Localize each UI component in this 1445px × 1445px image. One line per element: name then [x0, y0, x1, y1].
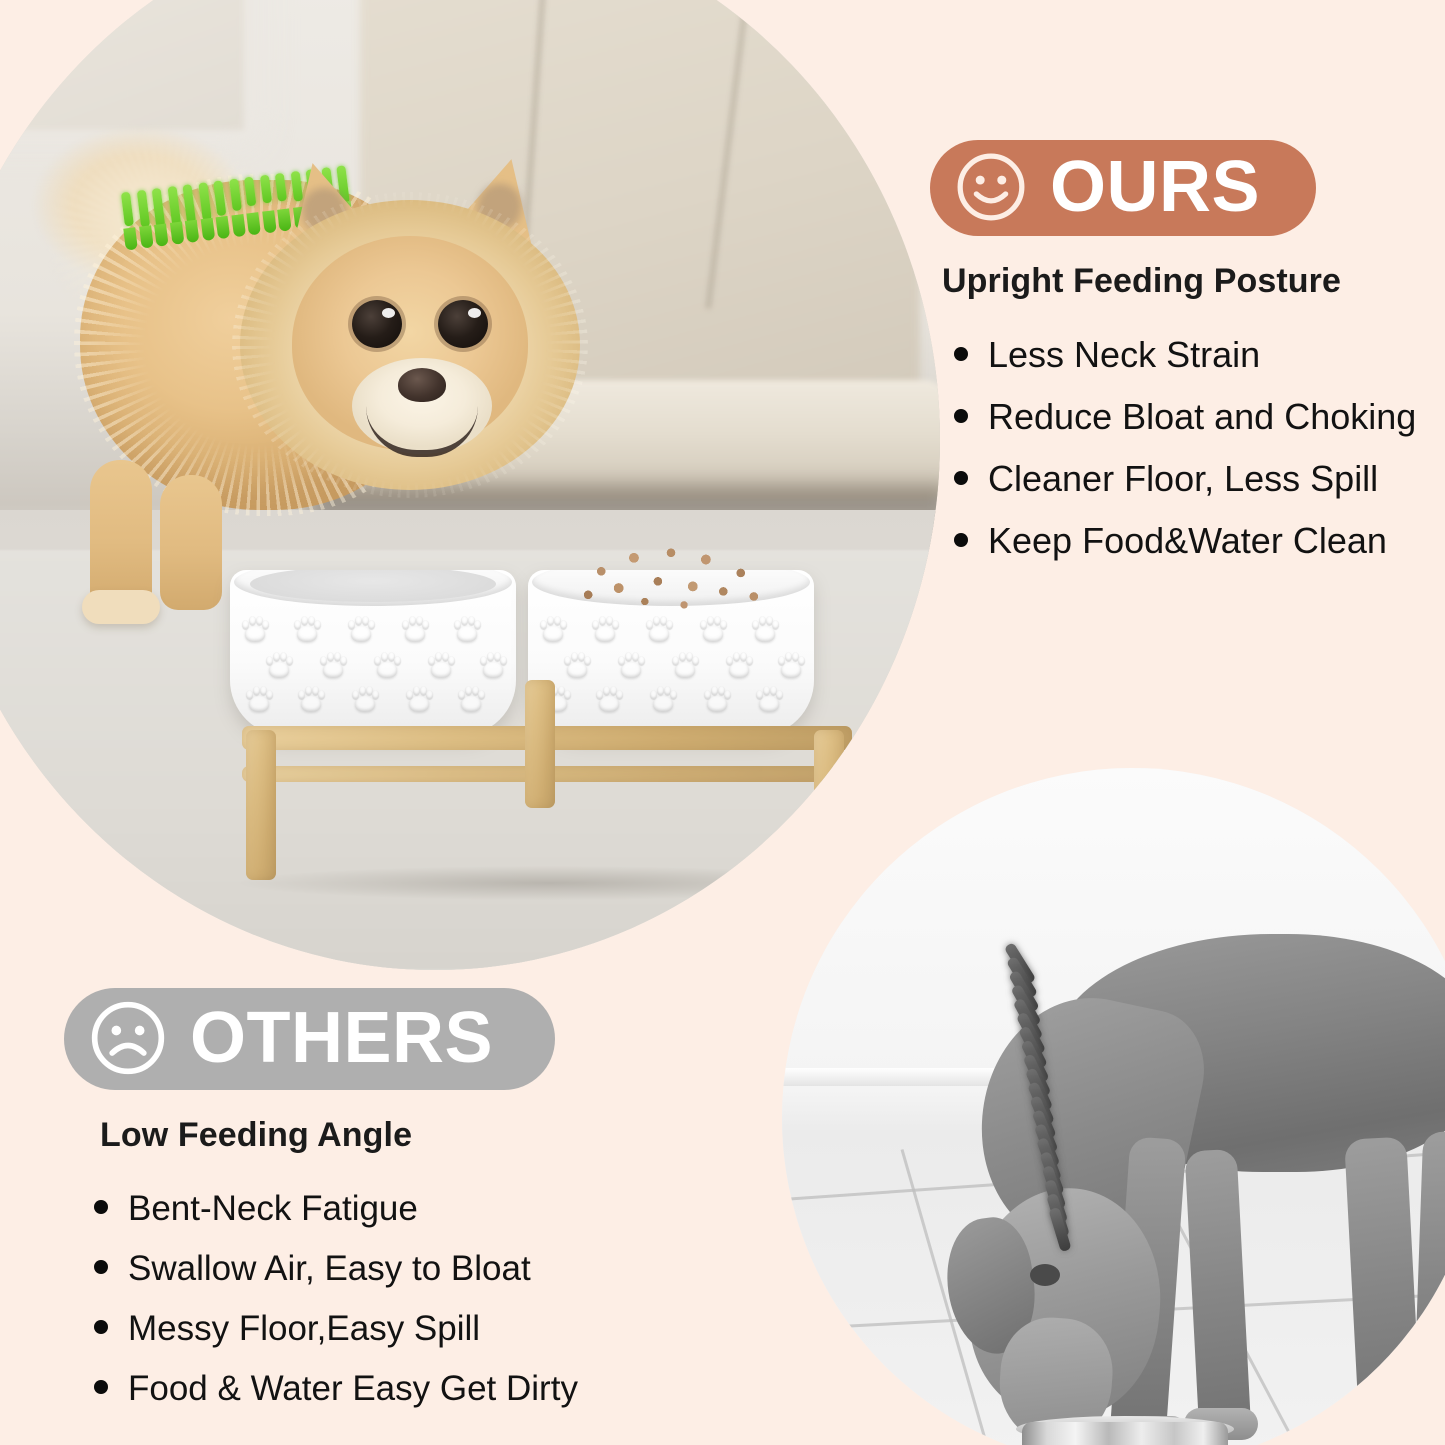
list-item: Messy Floor,Easy Spill — [94, 1311, 684, 1346]
others-comparison-photo — [782, 768, 1445, 1445]
dog-paw — [1412, 1410, 1445, 1442]
paw-toe — [294, 620, 301, 629]
paw-toe — [711, 686, 718, 695]
vertebra-process — [123, 227, 138, 250]
paw-toe — [596, 690, 603, 699]
paw-toe — [394, 656, 401, 665]
others-drawback-list: Bent-Neck Fatigue Swallow Air, Easy to B… — [94, 1191, 684, 1406]
paw-toe — [266, 690, 273, 699]
paw-toe — [413, 686, 420, 695]
paw-toe — [672, 656, 679, 665]
paw-print-icon — [346, 616, 376, 642]
vertebra-process — [139, 225, 154, 248]
paw-toe — [603, 686, 610, 695]
paw-toe — [776, 690, 783, 699]
list-item-label: Keep Food&Water Clean — [988, 523, 1387, 559]
list-item-label: Swallow Air, Easy to Bloat — [128, 1251, 531, 1286]
paw-print-embossing — [230, 612, 516, 722]
paw-toe — [480, 656, 487, 665]
paw-toe — [273, 652, 280, 661]
paw-print-icon — [404, 686, 434, 712]
paw-toe — [700, 620, 707, 629]
paw-toe — [560, 620, 567, 629]
bamboo-leg — [246, 730, 276, 880]
paw-toe — [584, 656, 591, 665]
paw-toe — [726, 656, 733, 665]
paw-pad — [621, 662, 641, 678]
paw-print-icon — [456, 686, 486, 712]
paw-toe — [785, 652, 792, 661]
paw-toe — [381, 652, 388, 661]
bullet-dot-icon — [954, 471, 968, 485]
paw-print-icon — [562, 652, 592, 678]
ours-badge: OURS — [930, 140, 1316, 236]
sad-face-icon — [88, 998, 168, 1078]
vertebra-process — [216, 216, 231, 239]
paw-pad — [649, 626, 669, 642]
bullet-dot-icon — [94, 1380, 108, 1394]
paw-print-icon — [244, 686, 274, 712]
paw-toe — [756, 690, 763, 699]
dog-paw — [1346, 1416, 1420, 1445]
paw-toe — [564, 656, 571, 665]
paw-pad — [595, 626, 615, 642]
paw-toe — [359, 686, 366, 695]
paw-toe — [616, 690, 623, 699]
paw-toe — [772, 620, 779, 629]
paw-toe — [435, 652, 442, 661]
bowl-body — [1022, 1422, 1228, 1445]
paw-toe — [286, 656, 293, 665]
paw-toe — [746, 656, 753, 665]
paw-print-icon — [724, 652, 754, 678]
paw-toe — [564, 690, 571, 699]
paw-toe — [720, 620, 727, 629]
paw-pad — [297, 626, 317, 642]
smiley-face-icon — [954, 150, 1028, 224]
paw-print-icon — [426, 652, 456, 678]
paw-pad — [323, 662, 343, 678]
paw-toe — [422, 620, 429, 629]
paw-toe — [763, 686, 770, 695]
paw-pad — [675, 662, 695, 678]
paw-toe — [692, 656, 699, 665]
paw-pad — [729, 662, 749, 678]
paw-toe — [458, 690, 465, 699]
paw-toe — [670, 690, 677, 699]
bamboo-center-post — [525, 680, 555, 808]
paw-toe — [679, 652, 686, 661]
paw-pad — [703, 626, 723, 642]
others-badge: OTHERS — [64, 988, 555, 1090]
paw-toe — [402, 620, 409, 629]
paw-toe — [249, 616, 256, 625]
paw-toe — [618, 656, 625, 665]
paw-toe — [320, 656, 327, 665]
paw-print-icon — [616, 652, 646, 678]
bullet-dot-icon — [94, 1320, 108, 1334]
paw-pad — [759, 696, 779, 712]
paw-toe — [305, 686, 312, 695]
list-item: Bent-Neck Fatigue — [94, 1191, 684, 1226]
paw-toe — [428, 656, 435, 665]
paw-toe — [592, 620, 599, 629]
dog-nose — [398, 368, 446, 402]
list-item-label: Reduce Bloat and Choking — [988, 399, 1416, 435]
vertebra-segment — [136, 190, 149, 228]
paw-toe — [301, 616, 308, 625]
paw-toe — [262, 620, 269, 629]
paw-toe — [650, 690, 657, 699]
dog-eye — [1030, 1264, 1060, 1286]
paw-pad — [377, 662, 397, 678]
list-item-label: Bent-Neck Fatigue — [128, 1191, 418, 1226]
paw-pad — [567, 662, 587, 678]
ours-text-panel: OURS Upright Feeding Posture Less Neck S… — [930, 140, 1415, 585]
list-item: Reduce Bloat and Choking — [954, 399, 1415, 435]
elevated-bowl-stand-unit — [230, 570, 870, 900]
bullet-dot-icon — [94, 1200, 108, 1214]
paw-toe — [253, 686, 260, 695]
paw-pad — [249, 696, 269, 712]
vertebra-segment — [121, 192, 134, 227]
paw-pad — [431, 662, 451, 678]
paw-print-icon — [264, 652, 294, 678]
paw-toe — [314, 620, 321, 629]
paw-print-icon — [594, 686, 624, 712]
bullet-dot-icon — [954, 409, 968, 423]
paw-pad — [543, 626, 563, 642]
paw-toe — [500, 656, 507, 665]
paw-toe — [355, 616, 362, 625]
paw-toe — [368, 620, 375, 629]
dog-eye — [352, 300, 402, 348]
dog-front-leg — [90, 460, 152, 610]
bullet-dot-icon — [954, 347, 968, 361]
paw-pad — [355, 696, 375, 712]
paw-print-icon — [754, 686, 784, 712]
others-badge-label: OTHERS — [190, 1002, 493, 1074]
paw-toe — [409, 616, 416, 625]
paw-toe — [465, 686, 472, 695]
others-subheading: Low Feeding Angle — [100, 1116, 684, 1155]
paw-print-icon — [670, 652, 700, 678]
bent-neck-dog — [852, 888, 1445, 1445]
paw-print-icon — [350, 686, 380, 712]
paw-toe — [327, 652, 334, 661]
list-item: Swallow Air, Easy to Bloat — [94, 1251, 684, 1286]
list-item-label: Cleaner Floor, Less Spill — [988, 461, 1378, 497]
dog-head — [240, 140, 580, 470]
vertebra-process — [169, 222, 184, 245]
paw-toe — [625, 652, 632, 661]
list-item-label: Less Neck Strain — [988, 337, 1260, 373]
paw-pad — [409, 696, 429, 712]
paw-toe — [340, 656, 347, 665]
vertebra-segment — [182, 184, 196, 224]
paw-pad — [653, 696, 673, 712]
paw-toe — [298, 690, 305, 699]
dog-front-leg — [1185, 1149, 1252, 1437]
bullet-dot-icon — [94, 1260, 108, 1274]
infographic-canvas: OURS Upright Feeding Posture Less Neck S… — [0, 0, 1445, 1445]
list-item: Less Neck Strain — [954, 337, 1415, 373]
paw-pad — [781, 662, 801, 678]
paw-toe — [704, 690, 711, 699]
dog-hind-leg — [1413, 1131, 1445, 1433]
list-item: Food & Water Easy Get Dirty — [94, 1371, 684, 1406]
paw-print-icon — [372, 652, 402, 678]
vertebra-segment — [213, 180, 226, 216]
list-item-label: Messy Floor,Easy Spill — [128, 1311, 480, 1346]
paw-print-icon — [648, 686, 678, 712]
vertebra-process — [154, 223, 169, 246]
paw-print-icon — [452, 616, 482, 642]
dog-hind-leg — [1344, 1137, 1422, 1440]
paw-pad — [461, 696, 481, 712]
paw-toe — [246, 690, 253, 699]
paw-toe — [266, 656, 273, 665]
dog-paw — [82, 590, 160, 624]
red-strained-spine-overlay — [998, 958, 1094, 1258]
paw-toe — [474, 620, 481, 629]
water-bowl — [230, 570, 516, 736]
paw-toe — [448, 656, 455, 665]
paw-toe — [724, 690, 731, 699]
bullet-dot-icon — [954, 533, 968, 547]
paw-print-icon — [478, 652, 508, 678]
paw-toe — [657, 686, 664, 695]
paw-toe — [348, 620, 355, 629]
paw-toe — [666, 620, 673, 629]
paw-toe — [778, 656, 785, 665]
paw-toe — [638, 656, 645, 665]
vertebra-process — [200, 218, 215, 241]
vertebra-segment — [167, 186, 181, 227]
others-text-panel: OTHERS Low Feeding Angle Bent-Neck Fatig… — [64, 988, 684, 1431]
list-item: Keep Food&Water Clean — [954, 523, 1415, 559]
paw-pad — [245, 626, 265, 642]
paw-toe — [540, 620, 547, 629]
paw-toe — [646, 620, 653, 629]
paw-toe — [352, 690, 359, 699]
vertebra-process — [185, 220, 200, 243]
paw-pad — [405, 626, 425, 642]
paw-pad — [707, 696, 727, 712]
ours-subheading: Upright Feeding Posture — [942, 262, 1415, 301]
paw-toe — [374, 656, 381, 665]
paw-toe — [733, 652, 740, 661]
dog-eye — [438, 300, 488, 348]
paw-toe — [372, 690, 379, 699]
paw-print-embossing — [528, 612, 814, 722]
paw-toe — [571, 652, 578, 661]
paw-pad — [483, 662, 503, 678]
paw-pad — [301, 696, 321, 712]
ours-badge-label: OURS — [1050, 151, 1260, 223]
kibble-mound — [562, 536, 780, 620]
paw-print-icon — [292, 616, 322, 642]
paw-print-icon — [702, 686, 732, 712]
paw-toe — [454, 620, 461, 629]
paw-pad — [269, 662, 289, 678]
paw-pad — [351, 626, 371, 642]
vertebra-segment — [198, 182, 212, 220]
dog-front-leg — [160, 475, 222, 610]
paw-toe — [487, 652, 494, 661]
paw-toe — [426, 690, 433, 699]
list-item-label: Food & Water Easy Get Dirty — [128, 1371, 578, 1406]
paw-toe — [547, 616, 554, 625]
paw-print-icon — [776, 652, 806, 678]
stainless-steel-floor-bowl — [1000, 1416, 1250, 1445]
paw-toe — [318, 690, 325, 699]
paw-toe — [798, 656, 805, 665]
paw-pad — [599, 696, 619, 712]
ours-benefit-list: Less Neck Strain Reduce Bloat and Chokin… — [954, 337, 1415, 559]
paw-pad — [755, 626, 775, 642]
paw-print-icon — [296, 686, 326, 712]
paw-print-icon — [318, 652, 348, 678]
vertebra-segment — [152, 188, 166, 228]
paw-toe — [242, 620, 249, 629]
paw-print-icon — [240, 616, 270, 642]
paw-toe — [406, 690, 413, 699]
paw-toe — [478, 690, 485, 699]
paw-toe — [461, 616, 468, 625]
paw-toe — [752, 620, 759, 629]
stand-shadow — [240, 866, 860, 900]
paw-toe — [612, 620, 619, 629]
paw-print-icon — [400, 616, 430, 642]
paw-pad — [457, 626, 477, 642]
list-item: Cleaner Floor, Less Spill — [954, 461, 1415, 497]
